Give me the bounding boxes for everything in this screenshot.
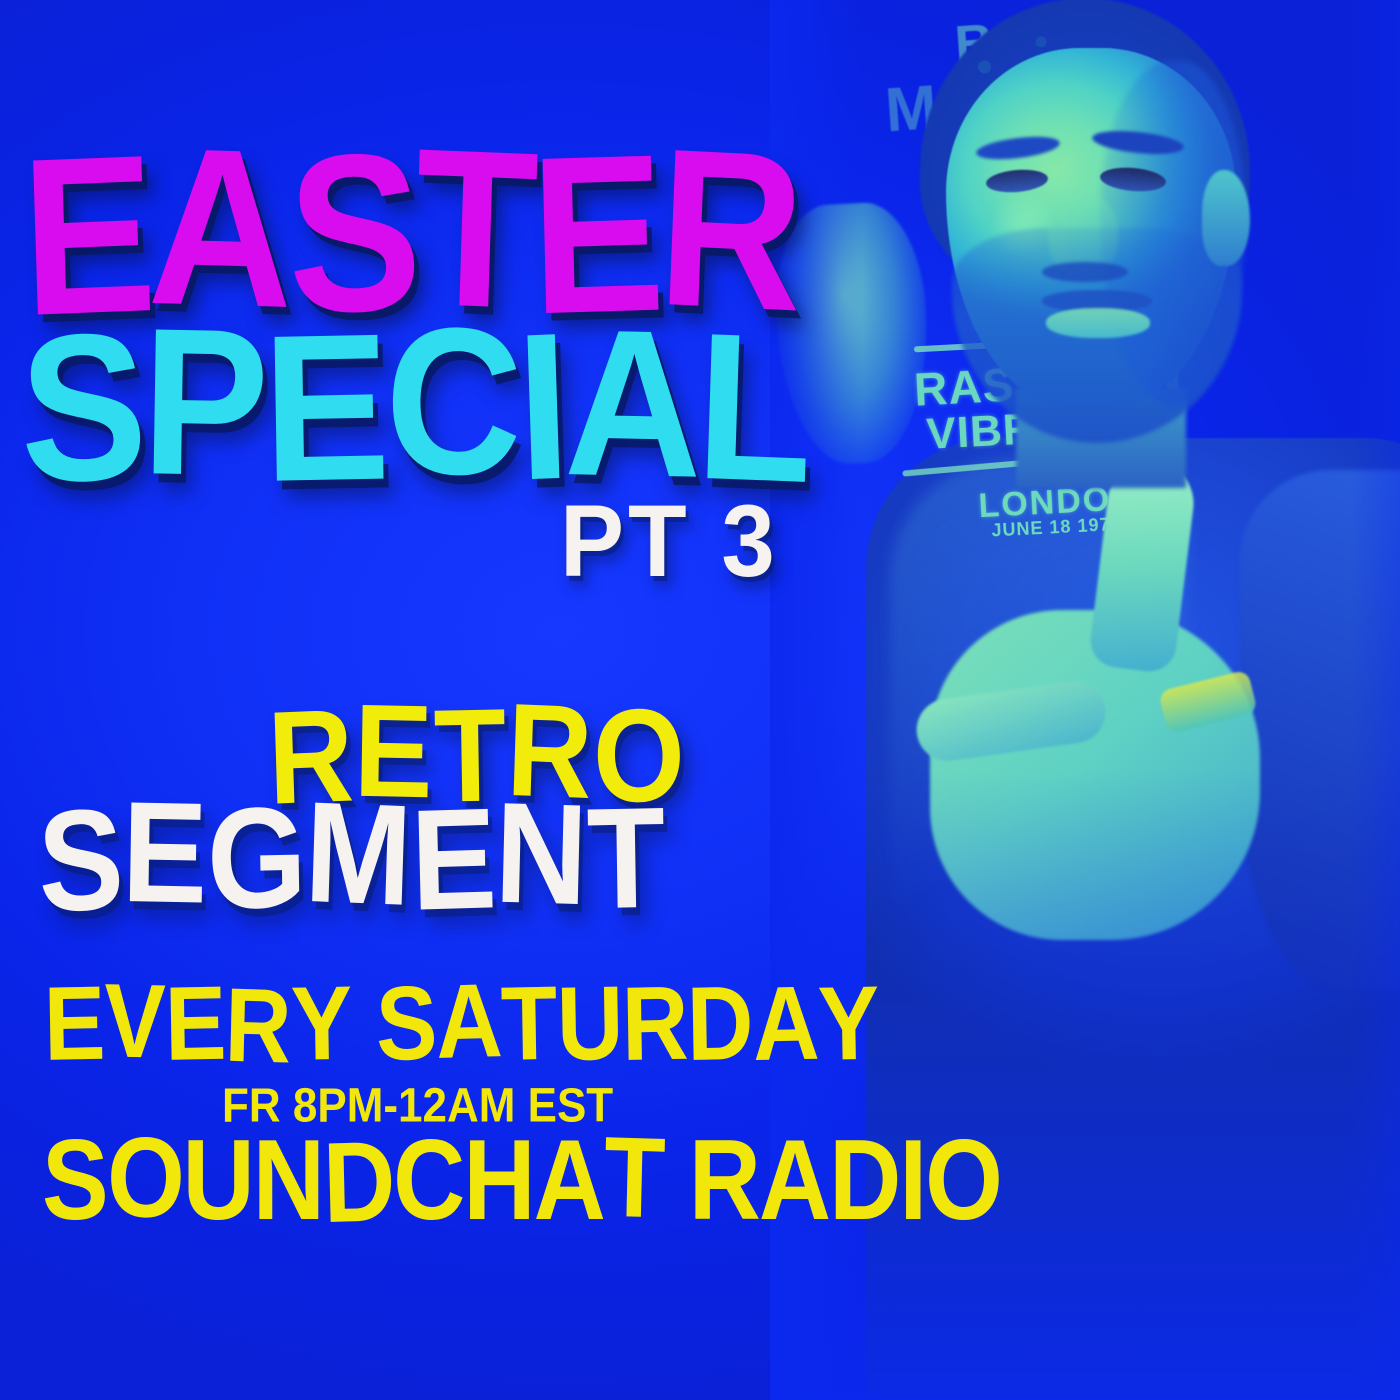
headline-part-number: PT 3 [560,495,779,589]
right-shoulder-shape [1240,470,1400,990]
schedule-station: SOUNDCHAT RADIO [42,1128,1001,1233]
schedule-day: EVERY SATURDAY [44,976,879,1072]
forearm-shape [930,610,1260,940]
segment-label-segment: SEGMENT [38,791,664,923]
ear-shape [1202,170,1250,266]
lower-lip [1046,308,1150,338]
headline-special: SPECIAL [20,309,809,501]
shirt-day: 18 [1049,516,1072,537]
promo-poster: BOB MARLEY LIVE RASTAMAN VIBRATION TOUR … [0,0,1400,1400]
shirt-month: JUNE [991,518,1044,541]
nostril-shadow [1042,262,1128,282]
